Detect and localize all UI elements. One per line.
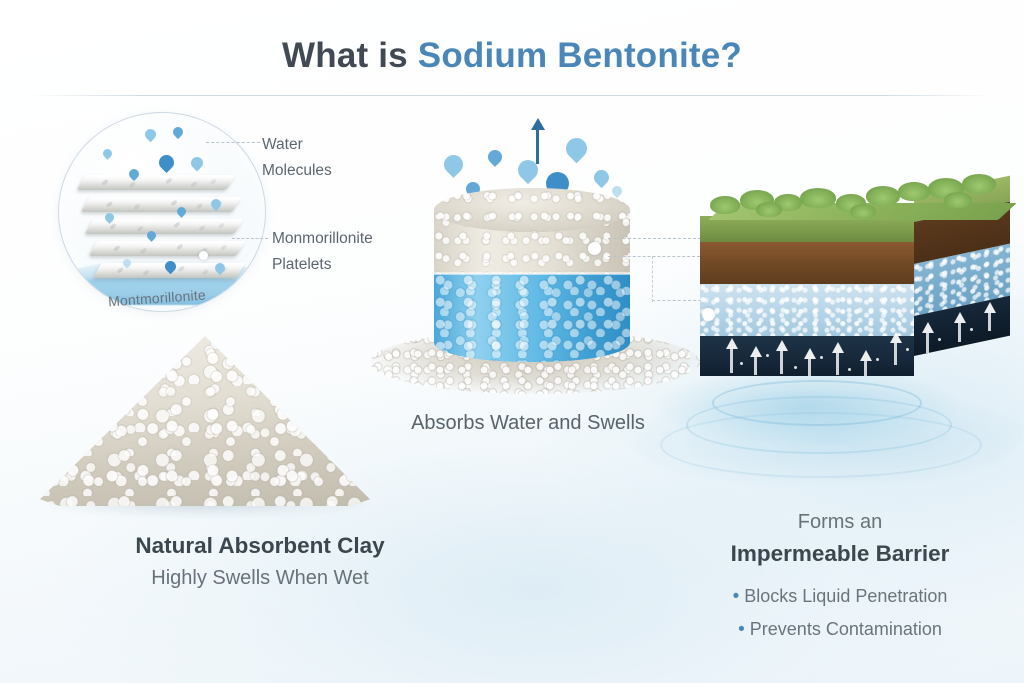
right-caption-line2: Impermeable Barrier	[660, 538, 1020, 570]
swelling-cylinder-illustration	[424, 188, 640, 378]
cylinder-waterline	[434, 272, 630, 275]
clay-pile-illustration	[40, 320, 370, 520]
water-ripple	[660, 412, 982, 478]
callout-leader-line	[232, 238, 268, 239]
bullet-dot-icon: •	[733, 586, 740, 607]
layer-soil-front	[700, 242, 914, 284]
left-caption-subtitle: Highly Swells When Wet	[40, 562, 480, 594]
water-droplet-icon	[156, 152, 177, 173]
bullet-dot-icon: •	[738, 619, 745, 640]
callout-water-molecules: Water Molecules	[262, 132, 332, 184]
callout-leader-line	[206, 142, 260, 143]
water-droplet-icon	[143, 127, 159, 143]
panel-connector-line	[608, 256, 700, 257]
title-accent: Sodium Bentonite?	[418, 36, 742, 75]
water-droplet-icon	[591, 167, 612, 188]
right-caption: Forms an Impermeable Barrier	[660, 506, 1020, 570]
platelet-layer	[89, 241, 246, 256]
right-bullet-list: • Blocks Liquid Penetration • Prevents C…	[660, 580, 1020, 646]
page-title: What is Sodium Bentonite?	[0, 36, 1024, 76]
pile-texture	[40, 336, 370, 506]
left-caption-heading: Natural Absorbent Clay	[40, 530, 480, 562]
water-droplet-icon	[171, 125, 185, 139]
pile-body	[40, 336, 370, 506]
infographic-canvas: What is Sodium Bentonite? Montmorillonit…	[0, 0, 1024, 683]
water-droplet-icon	[562, 134, 592, 164]
right-caption-line1: Forms an	[660, 506, 1020, 538]
cylinder-connector-dot	[588, 242, 601, 255]
cylinder-top-surface	[434, 188, 630, 232]
bullet-text: Prevents Contamination	[750, 619, 942, 639]
water-droplet-icon	[101, 147, 114, 160]
block-connector-dot	[702, 308, 715, 321]
title-divider	[30, 95, 994, 96]
magnifier-marker-dot	[199, 251, 208, 260]
water-droplet-icon	[485, 147, 505, 167]
layer-bentonite-front	[700, 284, 914, 336]
bullet-item: • Prevents Contamination	[660, 613, 1020, 646]
water-droplet-icon	[440, 151, 467, 178]
bullet-item: • Blocks Liquid Penetration	[660, 580, 1020, 613]
panel-connector-line	[652, 256, 653, 302]
cylinder-hydrated-section	[434, 274, 630, 362]
left-caption: Natural Absorbent Clay Highly Swells Whe…	[40, 530, 480, 594]
bullet-text: Blocks Liquid Penetration	[744, 586, 947, 606]
soil-cross-section-illustration	[700, 190, 1010, 376]
platelet-layer	[77, 175, 236, 190]
title-lead: What is	[282, 36, 418, 75]
center-caption: Absorbs Water and Swells	[398, 406, 658, 440]
callout-montmorillonite-platelets: Monmorillonite Platelets	[272, 226, 373, 278]
water-droplet-icon	[189, 155, 206, 172]
